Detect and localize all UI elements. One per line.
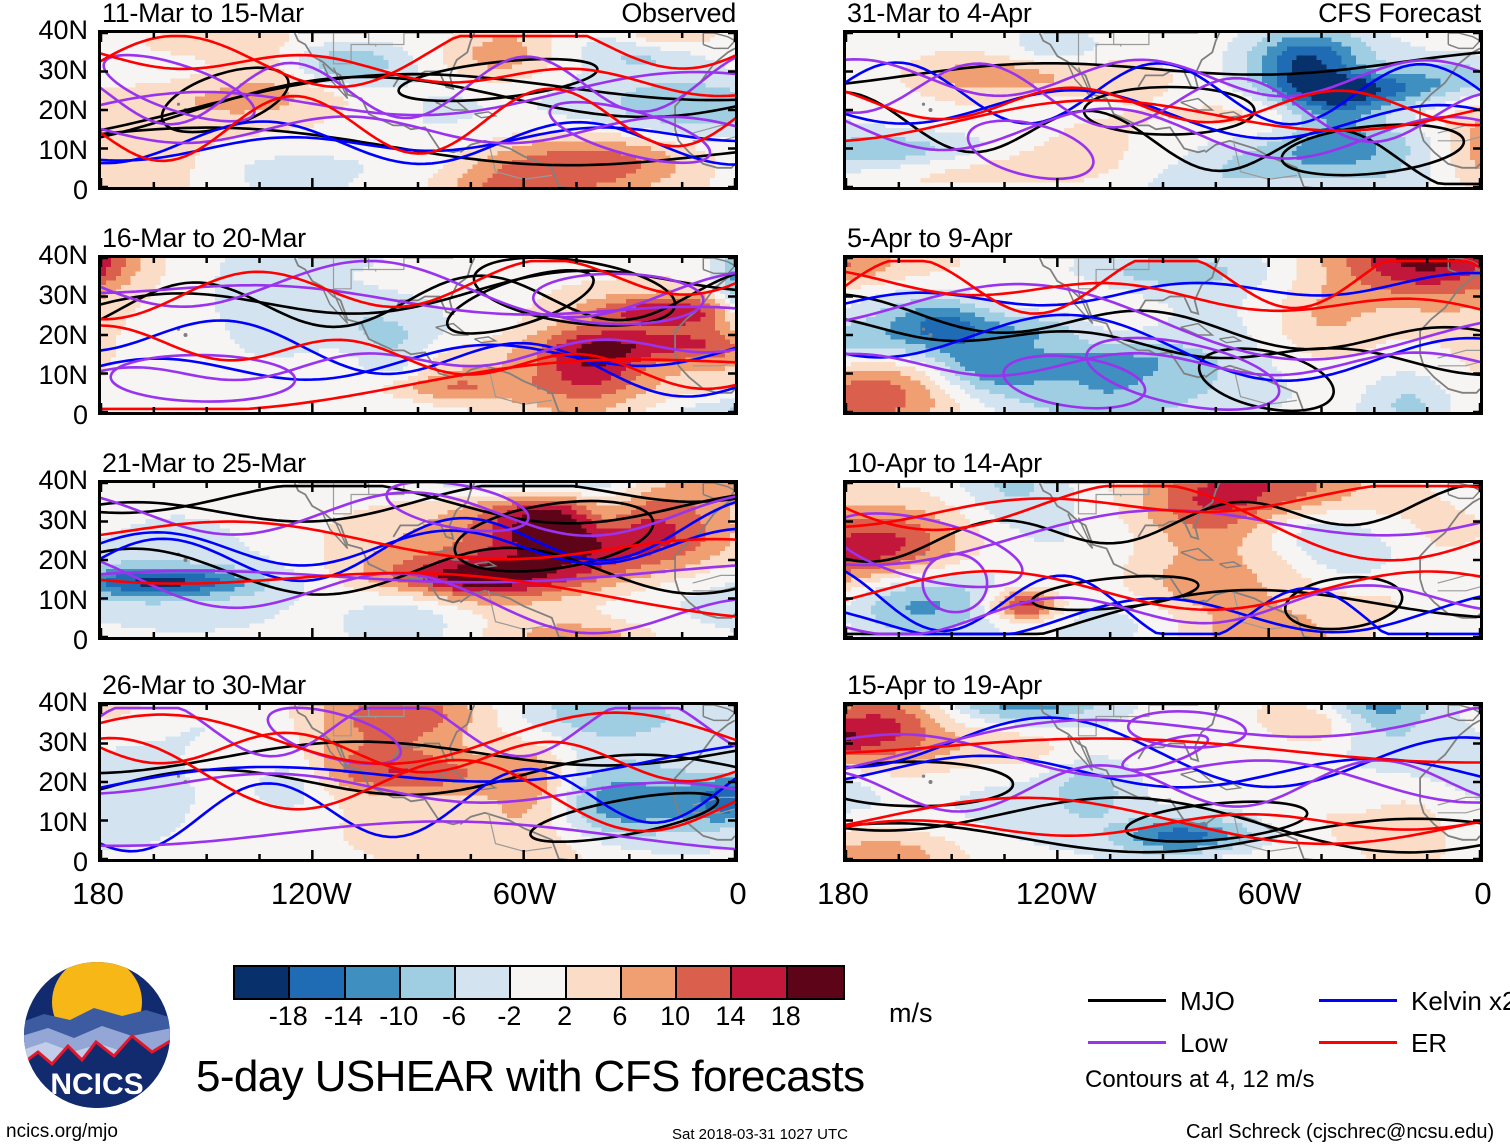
panel-title-p6: 5-Apr to 9-Apr: [847, 225, 1012, 252]
main-title: 5-day USHEAR with CFS forecasts: [196, 1055, 865, 1099]
legend-swatch-er: [1319, 1041, 1397, 1044]
y-tick-label: 20N: [0, 322, 88, 349]
x-tick-label: 120W: [1016, 878, 1097, 909]
logo-url: ncics.org/mjo: [6, 1122, 118, 1141]
shaded-field-p6: [846, 258, 1480, 412]
colorbar-swatch-2: [346, 967, 401, 998]
x-tick-label: 60W: [493, 878, 557, 909]
x-tick-label: 180: [817, 878, 869, 909]
y-tick-label: 20N: [0, 547, 88, 574]
y-tick-label: 10N: [0, 809, 88, 836]
colorbar-swatch-10: [788, 967, 843, 998]
colorbar-tick-label: -2: [479, 1003, 539, 1030]
x-tick-label: 0: [729, 878, 746, 909]
map-p6: [843, 255, 1483, 415]
map-p4: [98, 702, 738, 862]
contour-note: Contours at 4, 12 m/s: [1085, 1068, 1314, 1092]
legend-swatch-low: [1088, 1041, 1166, 1044]
colorbar-swatch-0: [235, 967, 290, 998]
colorbar: [233, 965, 845, 1000]
footer-timestamp: Sat 2018-03-31 1027 UTC: [672, 1127, 848, 1142]
shaded-field-p4: [101, 705, 735, 859]
column-header-left: Observed: [621, 0, 736, 27]
colorbar-swatch-8: [677, 967, 732, 998]
y-tick-label: 40N: [0, 242, 88, 269]
panel-title-p8: 15-Apr to 19-Apr: [847, 672, 1042, 699]
colorbar-tick-label: 10: [645, 1003, 705, 1030]
y-tick-label: 0: [0, 627, 88, 654]
map-p7: [843, 480, 1483, 640]
panel-title-p3: 21-Mar to 25-Mar: [102, 450, 306, 477]
panel-title-p7: 10-Apr to 14-Apr: [847, 450, 1042, 477]
map-p2: [98, 255, 738, 415]
panel-title-p1: 11-Mar to 15-Mar: [102, 0, 304, 27]
colorbar-swatch-9: [732, 967, 787, 998]
map-p3: [98, 480, 738, 640]
colorbar-swatch-5: [511, 967, 566, 998]
y-tick-label: 20N: [0, 97, 88, 124]
x-tick-label: 0: [1474, 878, 1491, 909]
y-tick-label: 40N: [0, 17, 88, 44]
y-tick-label: 20N: [0, 769, 88, 796]
legend-swatch-kelvin-x2: [1319, 999, 1397, 1002]
legend-label-kelvin-x2: Kelvin x2: [1411, 988, 1510, 1014]
colorbar-tick-label: -14: [314, 1003, 374, 1030]
panel-title-p5: 31-Mar to 4-Apr: [847, 0, 1032, 27]
panel-title-p2: 16-Mar to 20-Mar: [102, 225, 306, 252]
y-tick-label: 0: [0, 849, 88, 876]
legend-label-low: Low: [1180, 1030, 1228, 1056]
x-tick-label: 60W: [1238, 878, 1302, 909]
colorbar-tick-label: -6: [424, 1003, 484, 1030]
y-tick-label: 30N: [0, 282, 88, 309]
colorbar-swatch-4: [456, 967, 511, 998]
column-header-right: CFS Forecast: [1318, 0, 1481, 27]
colorbar-swatch-3: [401, 967, 456, 998]
colorbar-tick-label: -18: [258, 1003, 318, 1030]
x-tick-label: 180: [72, 878, 124, 909]
ncics-logo-text: NCICS: [50, 1068, 143, 1101]
footer-author: Carl Schreck (cjschrec@ncsu.edu): [1186, 1122, 1494, 1142]
colorbar-tick-label: 2: [535, 1003, 595, 1030]
map-p5: [843, 30, 1483, 190]
legend-swatch-mjo: [1088, 999, 1166, 1002]
y-tick-label: 40N: [0, 467, 88, 494]
y-tick-label: 30N: [0, 729, 88, 756]
colorbar-tick-label: 6: [590, 1003, 650, 1030]
colorbar-swatch-7: [622, 967, 677, 998]
y-tick-label: 0: [0, 402, 88, 429]
y-tick-label: 40N: [0, 689, 88, 716]
colorbar-swatch-6: [567, 967, 622, 998]
legend-label-er: ER: [1411, 1030, 1447, 1056]
map-p8: [843, 702, 1483, 862]
colorbar-tick-label: -10: [369, 1003, 429, 1030]
map-p1: [98, 30, 738, 190]
colorbar-swatch-1: [290, 967, 345, 998]
colorbar-tick-label: 18: [756, 1003, 816, 1030]
y-tick-label: 10N: [0, 362, 88, 389]
y-tick-label: 10N: [0, 137, 88, 164]
shaded-field-p2: [101, 258, 735, 412]
ncics-logo: NCICS: [22, 960, 172, 1115]
colorbar-tick-label: 14: [700, 1003, 760, 1030]
x-tick-label: 120W: [271, 878, 352, 909]
colorbar-units-label: m/s: [889, 1000, 933, 1027]
y-tick-label: 0: [0, 177, 88, 204]
legend-label-mjo: MJO: [1180, 988, 1235, 1014]
y-tick-label: 30N: [0, 507, 88, 534]
y-tick-label: 10N: [0, 587, 88, 614]
y-tick-label: 30N: [0, 57, 88, 84]
panel-title-p4: 26-Mar to 30-Mar: [102, 672, 306, 699]
